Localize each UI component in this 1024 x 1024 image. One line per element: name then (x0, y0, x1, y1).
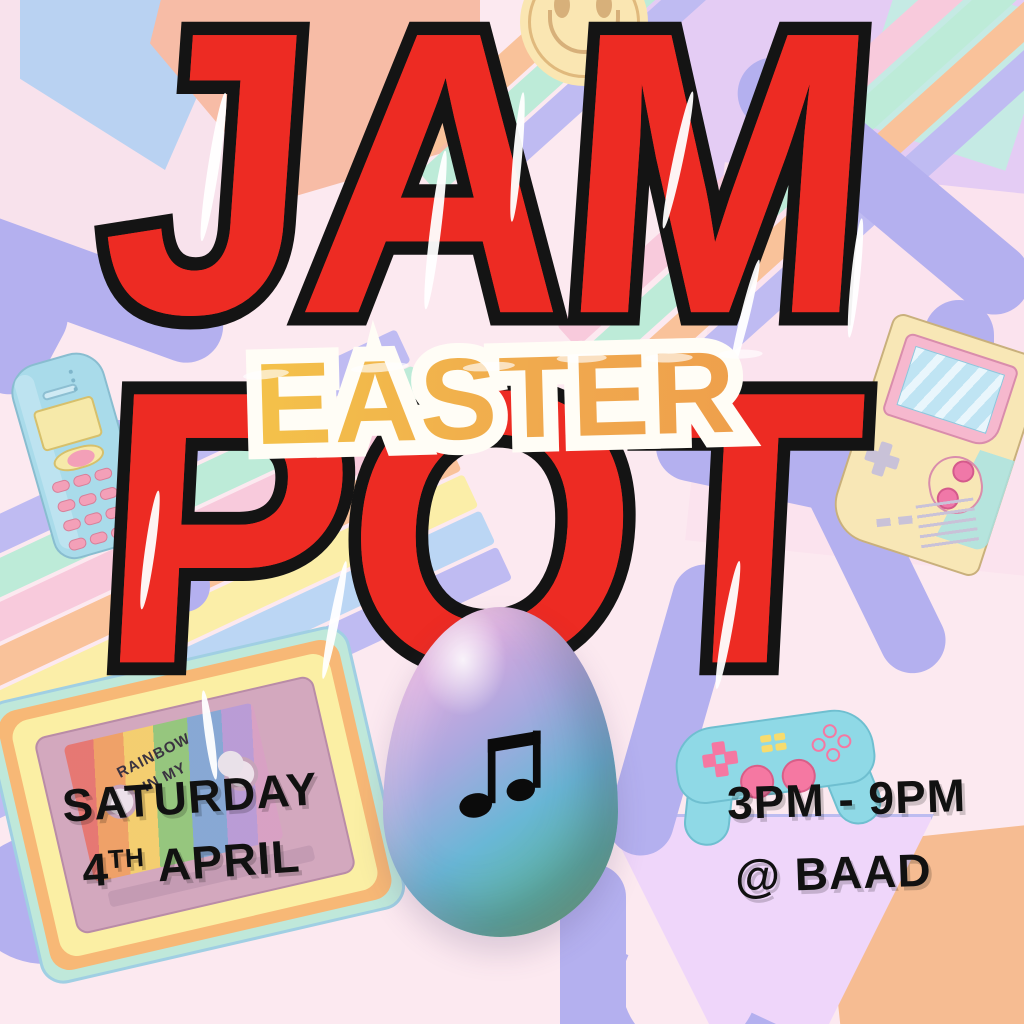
event-venue: @ BAAD (735, 843, 933, 904)
controller-face-buttons (809, 721, 854, 766)
event-date-ordinal: TH (107, 842, 146, 874)
event-date-month: APRIL (156, 829, 302, 891)
controller-dpad (700, 740, 738, 778)
banner-easter-text: EASTER (194, 330, 797, 467)
easter-jam-pot-poster: RAINBOW IN MY JAM JAM POT POT EASTER EAS… (0, 0, 1024, 1024)
music-note-icon (446, 724, 556, 834)
controller-center-buttons (760, 732, 788, 753)
event-date-day: 4 (80, 843, 110, 897)
event-time: 3PM - 9PM (726, 768, 967, 830)
banner-easter: EASTER EASTER (194, 330, 798, 490)
